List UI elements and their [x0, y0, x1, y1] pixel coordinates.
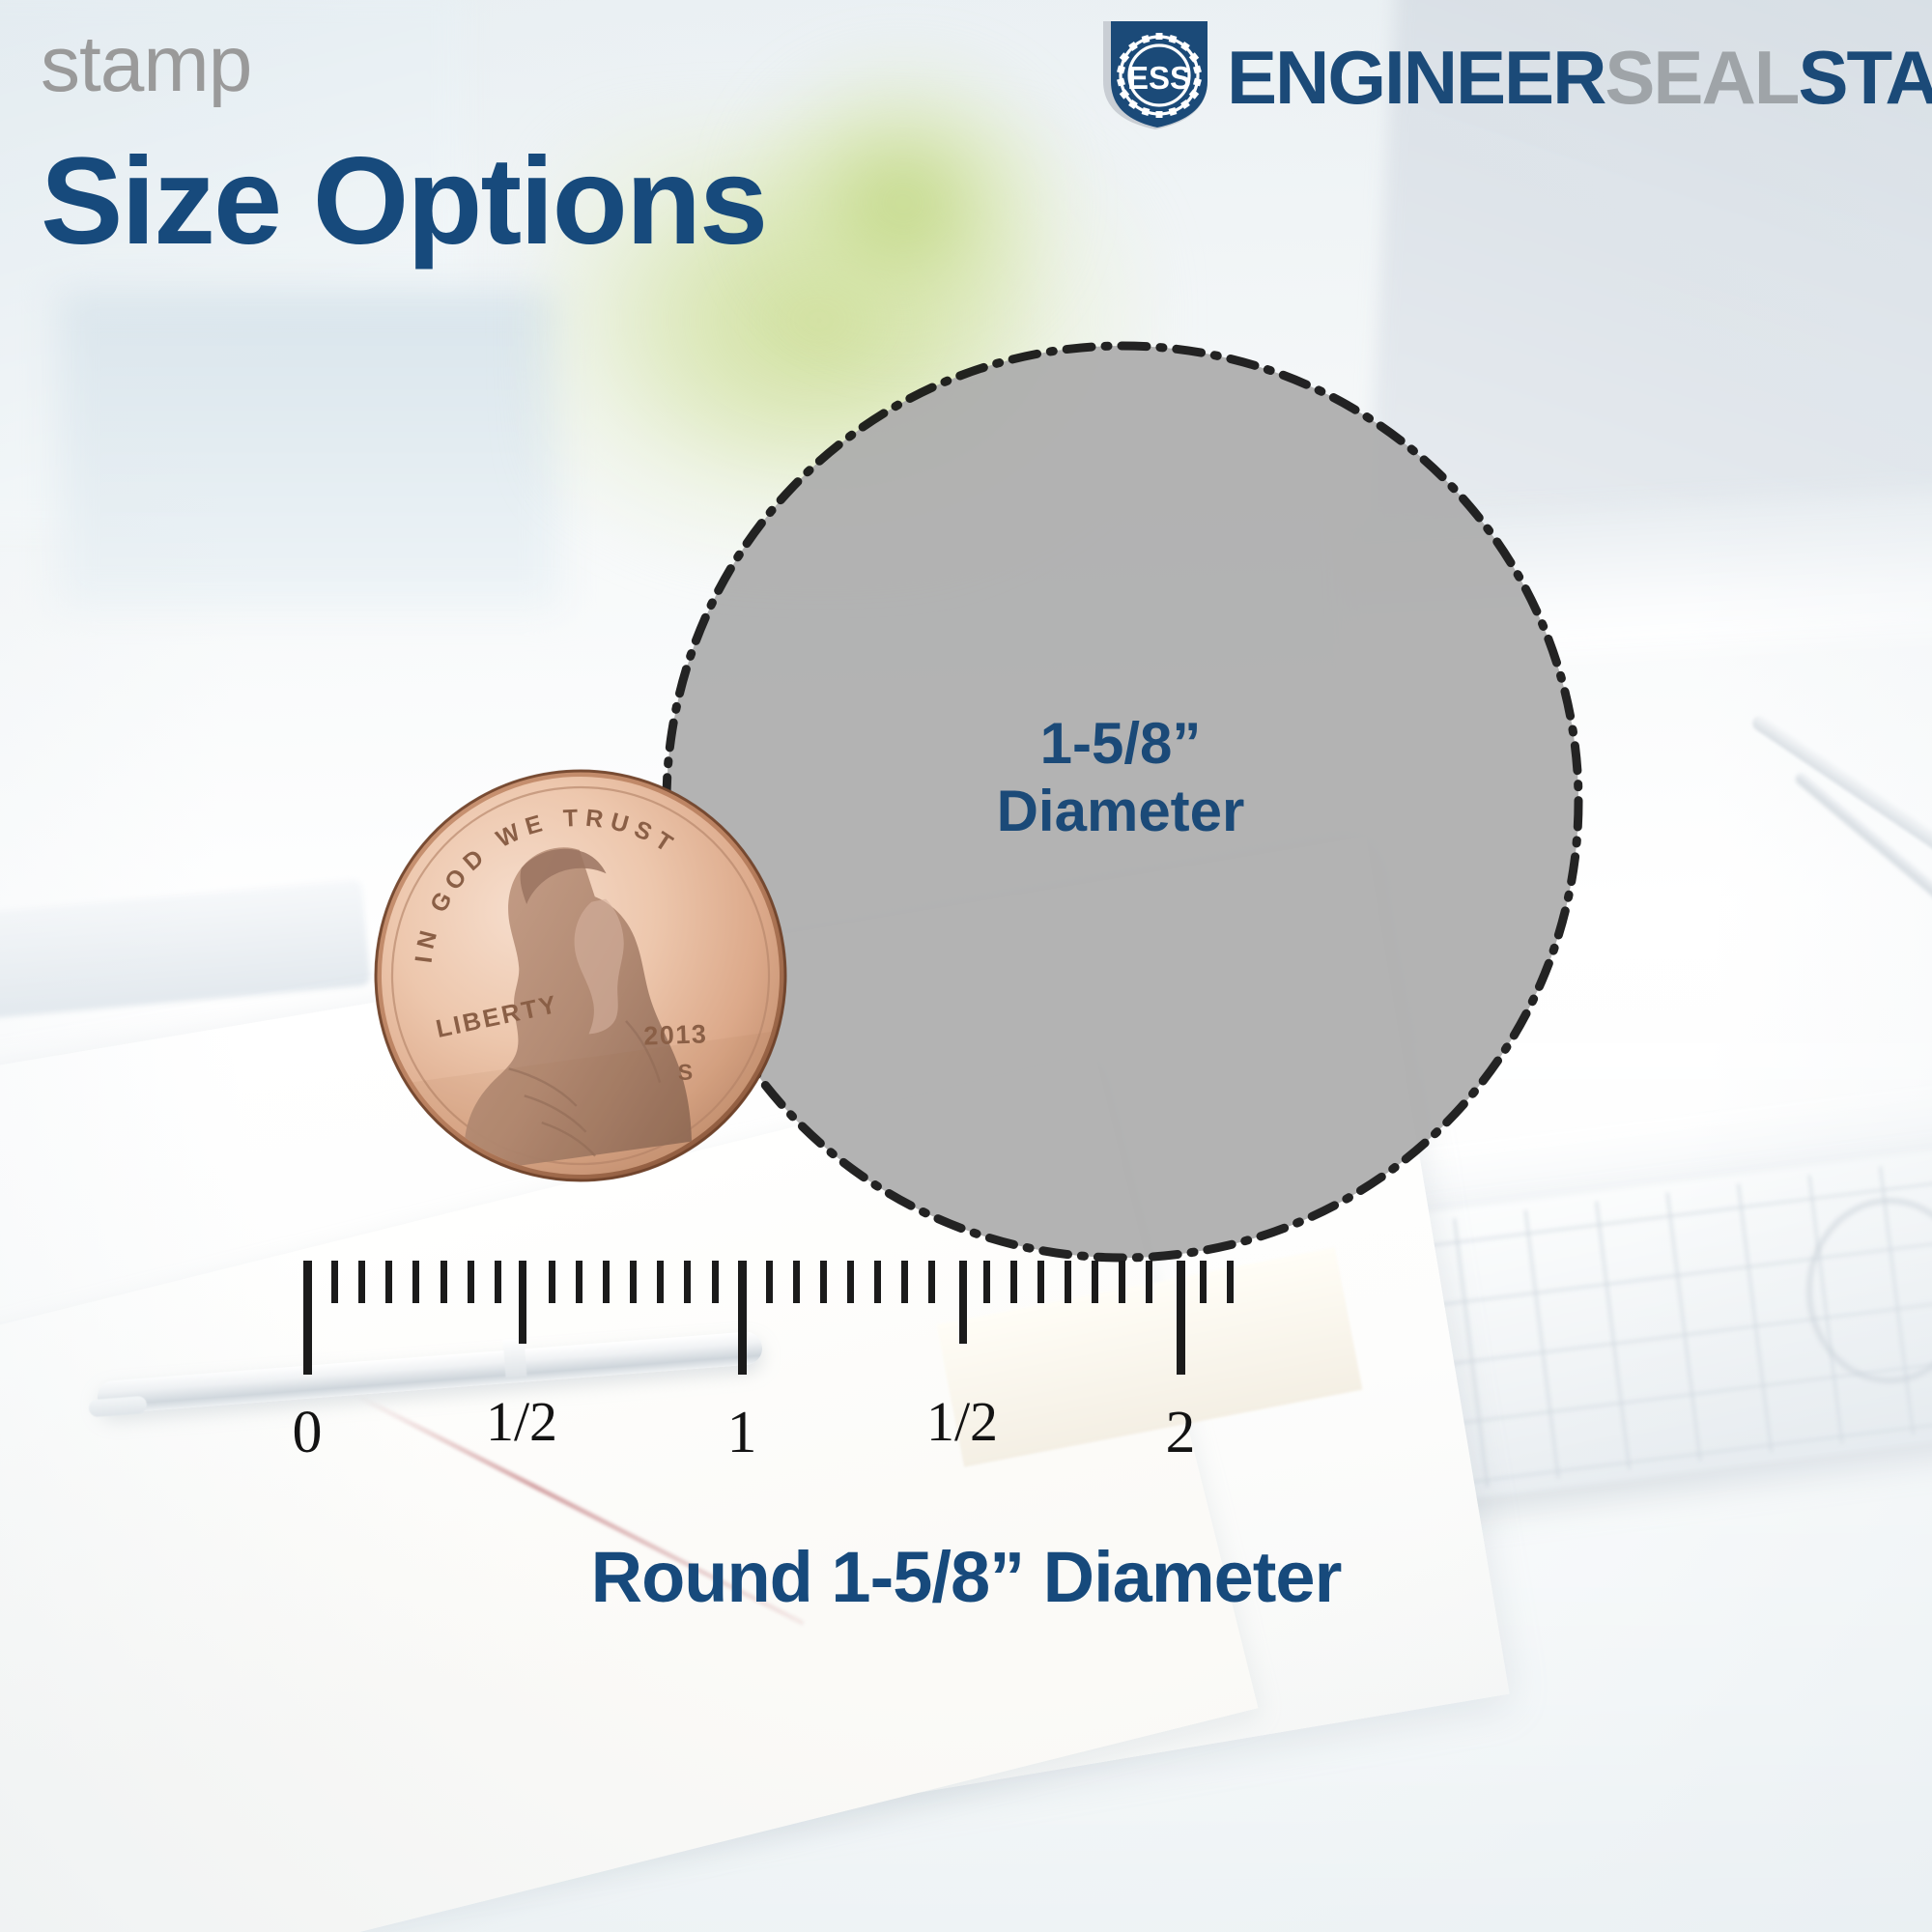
- ruler-number-label: 0: [293, 1399, 323, 1467]
- ruler-tick: [1037, 1261, 1044, 1303]
- stamp-size-value: 1-5/8”: [1040, 711, 1202, 776]
- size-options-graphic: stamp Size Options: [0, 0, 1932, 1932]
- ruler-tick: [331, 1261, 338, 1303]
- ruler-tick: [1010, 1261, 1017, 1303]
- ruler-tick: [385, 1261, 392, 1303]
- ruler-tick: [1065, 1261, 1071, 1303]
- ruler-tick: [303, 1261, 312, 1375]
- ruler-number-label: 2: [1166, 1399, 1196, 1467]
- ruler-tick: [549, 1261, 555, 1303]
- logo-word-stamps: STAMPS: [1798, 47, 1932, 109]
- ruler-tick: [738, 1261, 747, 1375]
- ruler-number-label: 1: [727, 1399, 757, 1467]
- ruler-number-label: 1/2: [926, 1389, 998, 1454]
- ruler-tick: [874, 1261, 881, 1303]
- ruler-tick: [793, 1261, 800, 1303]
- coin-year-text: 2013: [643, 1019, 708, 1050]
- engineer-seal-stamps-logo[interactable]: ESS ENGINEER SEAL STAMPS .COM: [1097, 17, 1909, 131]
- ruler-tick: [712, 1261, 719, 1303]
- coin-mintmark-text: S: [677, 1059, 693, 1085]
- ruler-tick: [519, 1261, 526, 1344]
- ruler-tick: [495, 1261, 501, 1303]
- size-caption: Round 1-5/8” Diameter: [0, 1536, 1932, 1618]
- ruler-tick: [983, 1261, 990, 1303]
- ruler-tick: [1092, 1261, 1098, 1303]
- ruler-tick: [1119, 1261, 1125, 1303]
- ruler-tick: [440, 1261, 447, 1303]
- us-penny-coin: IN GOD WE TRUST LIBERTY 2013 S: [346, 741, 815, 1210]
- stamp-size-label: 1-5/8” Diameter: [918, 710, 1323, 844]
- ruler-tick: [959, 1261, 967, 1344]
- ruler-tick: [1146, 1261, 1152, 1303]
- ruler-tick: [820, 1261, 827, 1303]
- ruler-tick: [766, 1261, 773, 1303]
- stamp-size-unit: Diameter: [918, 778, 1323, 845]
- page-title: Size Options: [41, 140, 766, 264]
- ruler-tick: [358, 1261, 365, 1303]
- ruler-tick: [901, 1261, 908, 1303]
- ruler-tick: [1227, 1261, 1234, 1303]
- logo-word-seal: SEAL: [1605, 47, 1798, 109]
- ruler-tick: [847, 1261, 854, 1303]
- ruler-tick: [603, 1261, 610, 1303]
- logo-wordmark: ENGINEER SEAL STAMPS .COM: [1227, 40, 1932, 109]
- ruler-tick: [684, 1261, 691, 1303]
- ess-monogram-text: ESS: [1127, 60, 1191, 96]
- ruler-tick: [576, 1261, 582, 1303]
- ruler-tick: [412, 1261, 419, 1303]
- ruler-number-label: 1/2: [486, 1389, 557, 1454]
- logo-word-engineer: ENGINEER: [1227, 47, 1605, 109]
- ruler-tick: [1200, 1261, 1207, 1303]
- ruler-tick: [630, 1261, 637, 1303]
- ess-badge-icon: ESS: [1097, 17, 1213, 131]
- inch-ruler: inch 01/211/22: [0, 1198, 1932, 1468]
- stamp-wordmark: stamp: [41, 25, 251, 104]
- ruler-tick: [928, 1261, 935, 1303]
- ruler-tick: [1177, 1261, 1185, 1375]
- ruler-tick: [468, 1261, 474, 1303]
- ruler-tick: [657, 1261, 664, 1303]
